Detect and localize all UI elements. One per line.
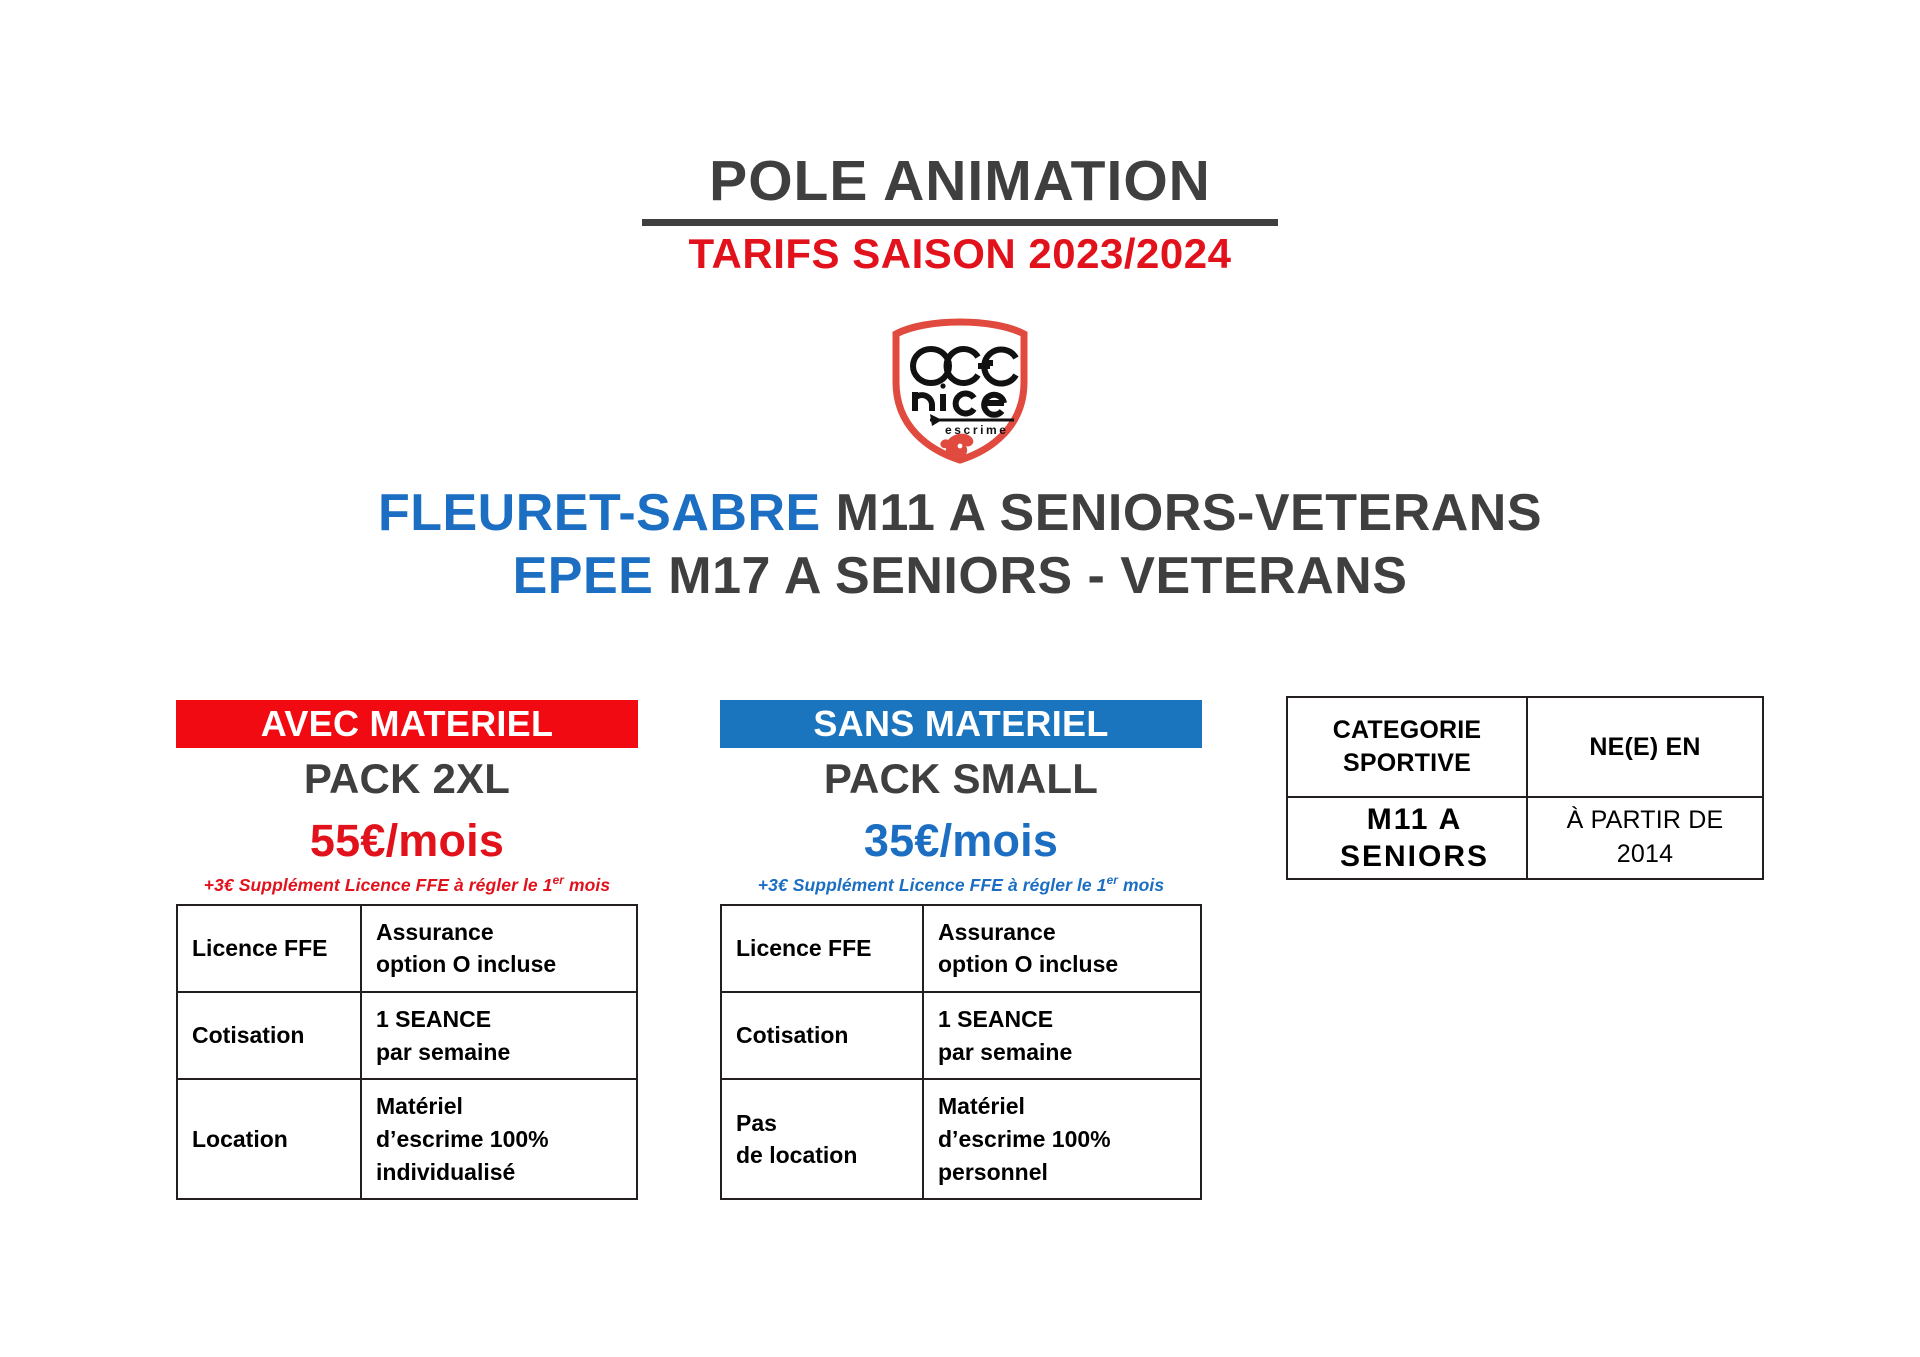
cell-line: SPORTIVE xyxy=(1289,747,1525,780)
pack-note-2xl-tail: mois xyxy=(564,875,610,895)
weapon-line-1-accent: FLEURET-SABRE xyxy=(378,484,821,542)
birth-year-cell: À PARTIR DE 2014 xyxy=(1527,797,1763,879)
pack-note-small-sup: er xyxy=(1107,873,1118,887)
title-divider xyxy=(642,219,1278,226)
pack-note-small-main: +3€ Supplément Licence FFE à régler le 1 xyxy=(758,875,1107,895)
page-title: POLE ANIMATION xyxy=(0,152,1920,210)
pack-note-small: +3€ Supplément Licence FFE à régler le 1… xyxy=(720,874,1202,895)
cell-line: option O incluse xyxy=(376,948,636,981)
cell-line: de location xyxy=(736,1139,922,1172)
pack-card-avec-materiel: AVEC MATERIEL PACK 2XL 55€/mois +3€ Supp… xyxy=(176,700,638,1200)
weapon-line-1-rest: M11 A SENIORS-VETERANS xyxy=(821,484,1542,542)
pack-banner-avec-materiel: AVEC MATERIEL xyxy=(176,700,638,748)
pack-price-2xl: 55€/mois xyxy=(176,816,638,866)
category-cell-m11-seniors: M11 A SENIORS xyxy=(1287,797,1527,879)
cell-line: Assurance xyxy=(376,916,636,949)
pack-price-small: 35€/mois xyxy=(720,816,1202,866)
weapon-line-epee: EPEE M17 A SENIORS - VETERANS xyxy=(0,545,1920,608)
cell-line: individualisé xyxy=(376,1156,636,1189)
cell-line: Matériel xyxy=(376,1090,636,1123)
poster-header: POLE ANIMATION TARIFS SAISON 2023/2024 xyxy=(0,152,1920,276)
cell-line: d’escrime 100% xyxy=(376,1123,636,1156)
row-value-licence-ffe: Assurance option O incluse xyxy=(923,905,1201,992)
weapon-line-2-accent: EPEE xyxy=(513,547,654,605)
cell-line: personnel xyxy=(938,1156,1200,1189)
pack-note-2xl-sup: er xyxy=(553,873,564,887)
svg-text:escrime: escrime xyxy=(945,423,1009,437)
row-key-licence-ffe: Licence FFE xyxy=(177,905,361,992)
cell-line: d’escrime 100% xyxy=(938,1123,1200,1156)
column-header-ne-en: NE(E) EN xyxy=(1527,697,1763,797)
row-value-pas-de-location: Matériel d’escrime 100% personnel xyxy=(923,1079,1201,1199)
row-key-licence-ffe: Licence FFE xyxy=(721,905,923,992)
table-row: Licence FFE Assurance option O incluse xyxy=(721,905,1201,992)
pack-note-2xl: +3€ Supplément Licence FFE à régler le 1… xyxy=(176,874,638,895)
pack-card-sans-materiel: SANS MATERIEL PACK SMALL 35€/mois +3€ Su… xyxy=(720,700,1202,1200)
pack-details-table-small: Licence FFE Assurance option O incluse C… xyxy=(720,904,1202,1201)
pack-note-small-tail: mois xyxy=(1118,875,1164,895)
pack-note-2xl-main: +3€ Supplément Licence FFE à régler le 1 xyxy=(204,875,553,895)
row-key-cotisation: Cotisation xyxy=(721,992,923,1079)
row-value-cotisation: 1 SEANCE par semaine xyxy=(361,992,637,1079)
row-value-cotisation: 1 SEANCE par semaine xyxy=(923,992,1201,1079)
table-header-row: CATEGORIE SPORTIVE NE(E) EN xyxy=(1287,697,1763,797)
cell-line: M11 A xyxy=(1304,801,1525,839)
club-logo-container: escrime xyxy=(0,308,1920,464)
category-table-container: CATEGORIE SPORTIVE NE(E) EN M11 A SENIOR… xyxy=(1286,696,1754,880)
cell-line: SENIORS xyxy=(1304,838,1525,876)
cell-line: option O incluse xyxy=(938,948,1200,981)
cell-line: À PARTIR DE xyxy=(1529,804,1761,838)
cell-line: par semaine xyxy=(376,1036,636,1069)
pack-details-table-2xl: Licence FFE Assurance option O incluse C… xyxy=(176,904,638,1201)
cell-line: 2014 xyxy=(1529,838,1761,872)
cell-line: 1 SEANCE xyxy=(938,1003,1200,1036)
table-row: Location Matériel d’escrime 100% individ… xyxy=(177,1079,637,1199)
cell-line: CATEGORIE xyxy=(1289,714,1525,747)
cell-line: 1 SEANCE xyxy=(376,1003,636,1036)
weapon-line-2-rest: M17 A SENIORS - VETERANS xyxy=(653,547,1407,605)
weapon-line-fleuret-sabre: FLEURET-SABRE M11 A SENIORS-VETERANS xyxy=(0,482,1920,545)
ogc-nice-escrime-logo: escrime xyxy=(886,308,1034,464)
row-key-location: Location xyxy=(177,1079,361,1199)
table-row: Cotisation 1 SEANCE par semaine xyxy=(177,992,637,1079)
pack-banner-sans-materiel: SANS MATERIEL xyxy=(720,700,1202,748)
table-row: Pas de location Matériel d’escrime 100% … xyxy=(721,1079,1201,1199)
cell-line: par semaine xyxy=(938,1036,1200,1069)
cell-line: Assurance xyxy=(938,916,1200,949)
table-row: Licence FFE Assurance option O incluse xyxy=(177,905,637,992)
weapons-heading: FLEURET-SABRE M11 A SENIORS-VETERANS EPE… xyxy=(0,482,1920,609)
pack-name-2xl: PACK 2XL xyxy=(176,756,638,802)
row-value-licence-ffe: Assurance option O incluse xyxy=(361,905,637,992)
pack-name-small: PACK SMALL xyxy=(720,756,1202,802)
cell-line: Pas xyxy=(736,1107,922,1140)
row-key-pas-de-location: Pas de location xyxy=(721,1079,923,1199)
row-value-location: Matériel d’escrime 100% individualisé xyxy=(361,1079,637,1199)
row-key-cotisation: Cotisation xyxy=(177,992,361,1079)
cell-line: Matériel xyxy=(938,1090,1200,1123)
table-row: Cotisation 1 SEANCE par semaine xyxy=(721,992,1201,1079)
category-table: CATEGORIE SPORTIVE NE(E) EN M11 A SENIOR… xyxy=(1286,696,1764,880)
season-subtitle: TARIFS SAISON 2023/2024 xyxy=(0,232,1920,276)
table-row: M11 A SENIORS À PARTIR DE 2014 xyxy=(1287,797,1763,879)
column-header-categorie-sportive: CATEGORIE SPORTIVE xyxy=(1287,697,1527,797)
